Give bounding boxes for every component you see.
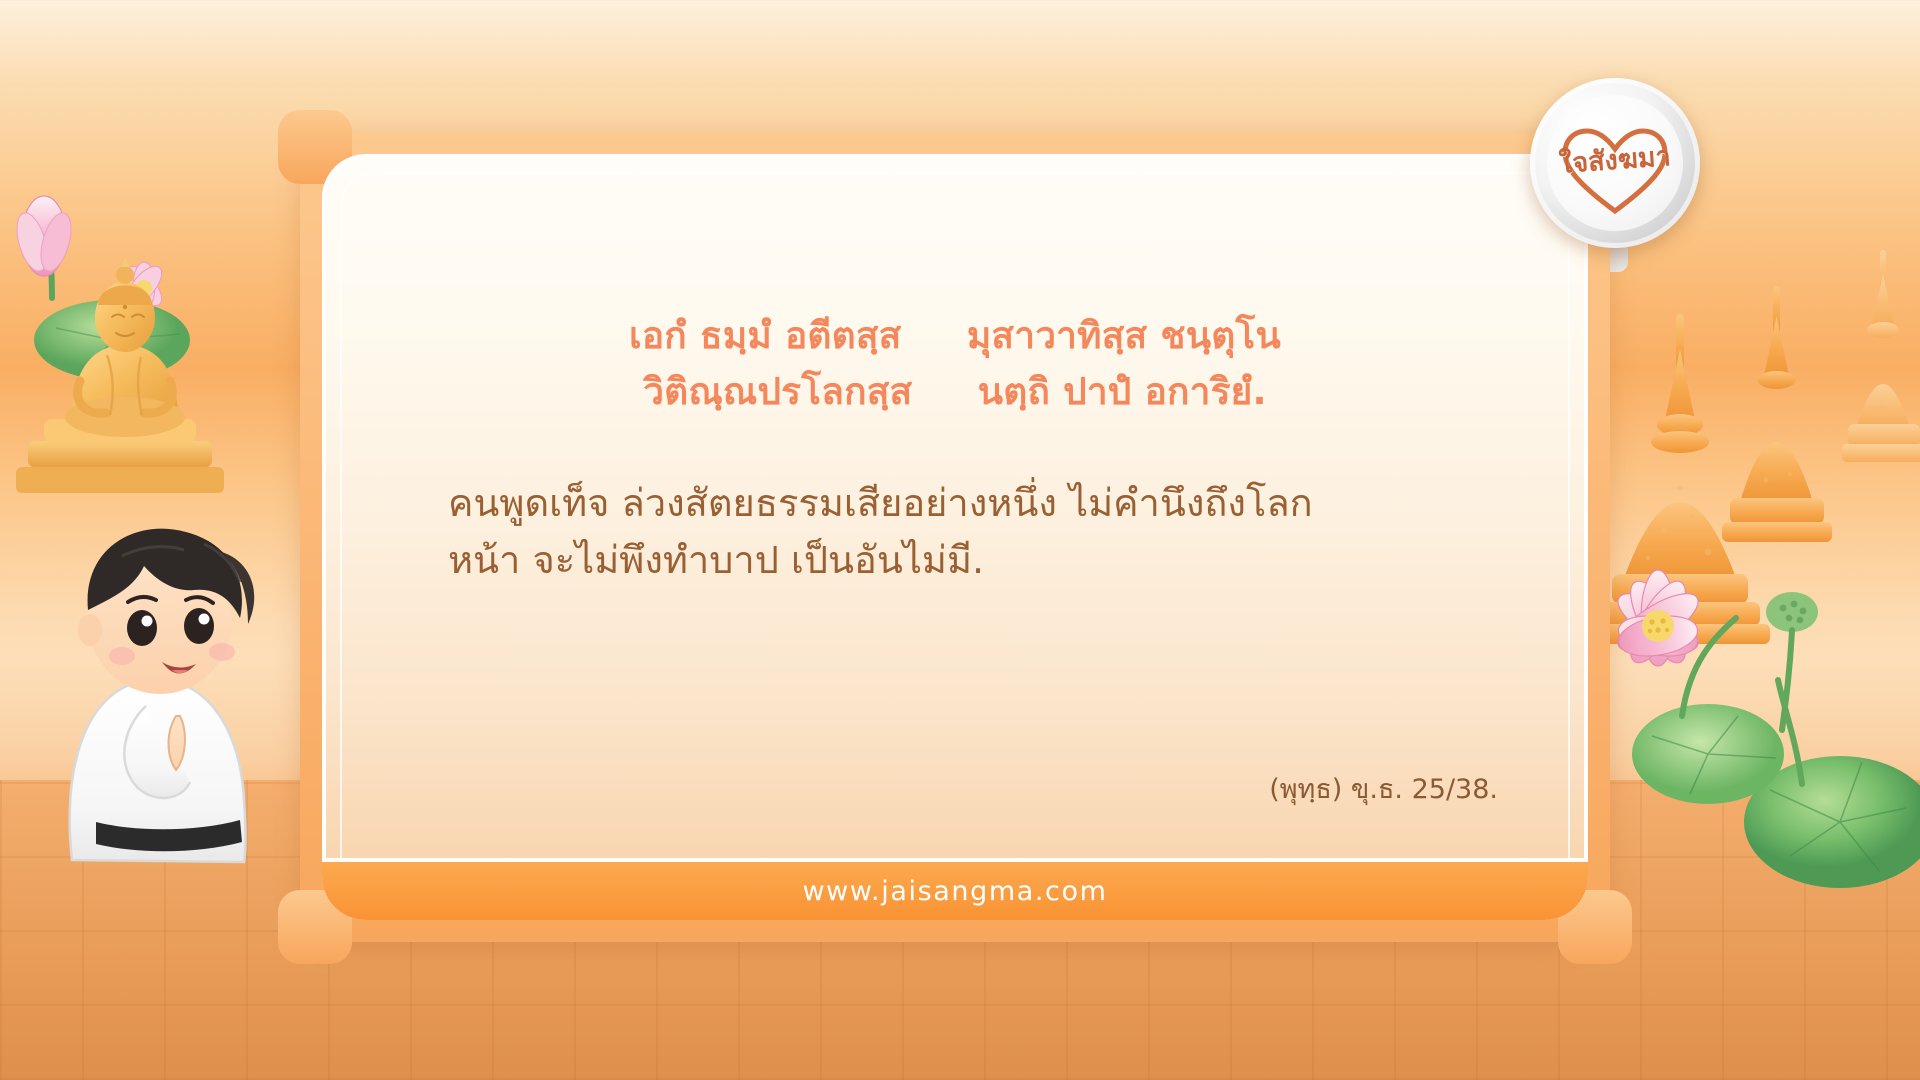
scripture-citation: (พุทฺธ) ขุ.ธ. 25/38. [1269,767,1498,810]
website-url[interactable]: www.jaisangma.com [802,876,1107,907]
logo-text: ใจสังฆมา [1558,134,1672,185]
pali-verse-line-1: เอกํ ธมฺมํ อตีตสฺส มุสาวาทิสฺส ชนฺตุโน [422,308,1488,364]
praying-boy-icon [26,470,296,870]
pali-verse-line-2: วิติณฺณปรโลกสฺส นตฺถิ ปาปํ อการิยํ. [422,364,1488,420]
quote-card: เอกํ ธมฺมํ อตีตสฺส มุสาวาทิสฺส ชนฺตุโน ว… [300,132,1610,942]
card-body: เอกํ ธมฺมํ อตีตสฺส มุสาวาทิสฺส ชนฺตุโน ว… [322,154,1588,920]
website-bar[interactable]: www.jaisangma.com [322,858,1588,920]
logo-inner-circle: ใจสังฆมา [1547,95,1683,231]
logo-badge[interactable]: ใจสังฆมา [1530,78,1700,248]
thai-translation-line-2: หน้า จะไม่พึงทำบาป เป็นอันไม่มี. [422,532,1488,589]
thai-translation-line-1: คนพูดเท็จ ล่วงสัตยธรรมเสียอย่างหนึ่ง ไม่… [422,475,1488,532]
buddha-statue-icon [10,205,240,505]
